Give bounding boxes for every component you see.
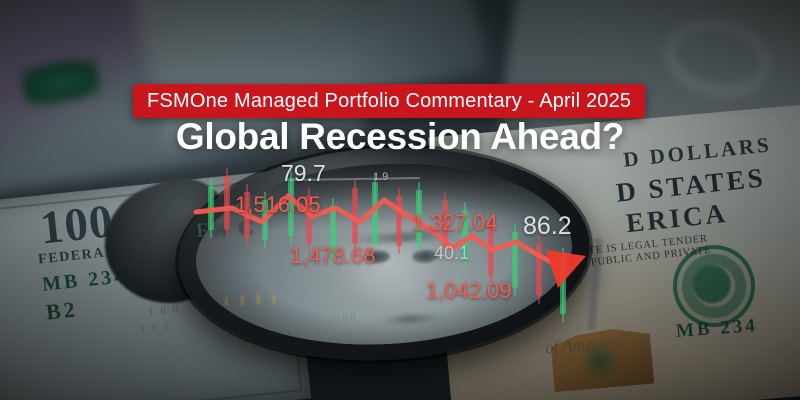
- magnified-note-word: FW C: [195, 216, 256, 243]
- magnifier-lens: 100: [192, 154, 577, 353]
- page-title: Global Recession Ahead?: [0, 116, 800, 158]
- commentary-ribbon: FSMOne Managed Portfolio Commentary - Ap…: [133, 84, 645, 118]
- franklin-portrait: [284, 195, 494, 353]
- magnifying-glass: 100: [173, 137, 596, 370]
- ribbon-label: FSMOne Managed Portfolio Commentary - Ap…: [147, 90, 631, 113]
- promo-banner-image: 100 FEDERAL RESE MB 23489 B2 100 100 FW …: [0, 0, 800, 400]
